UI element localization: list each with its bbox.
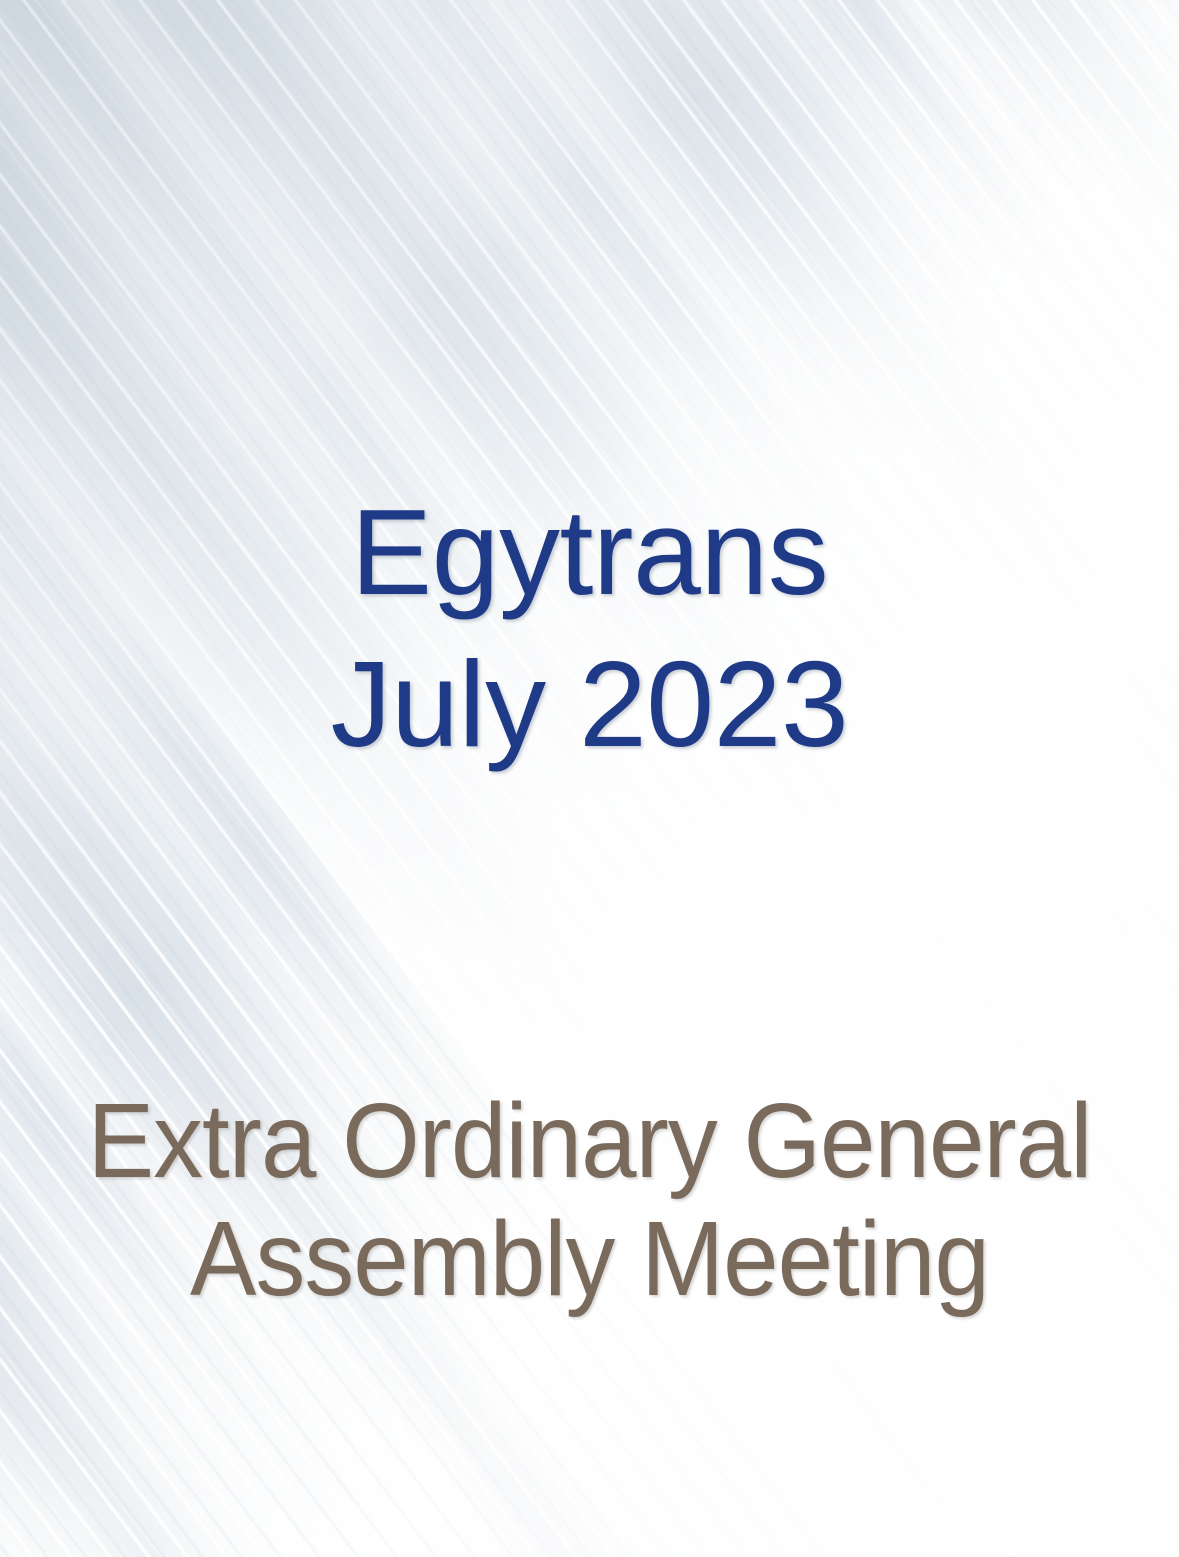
title-line-date: July 2023: [0, 628, 1179, 780]
slide-subtitle: Extra Ordinary General Assembly Meeting: [0, 1082, 1179, 1318]
subtitle-line-1: Extra Ordinary General: [35, 1082, 1143, 1200]
title-slide: Egytrans July 2023 Extra Ordinary Genera…: [0, 0, 1179, 1557]
slide-title: Egytrans July 2023: [0, 476, 1179, 780]
title-line-company: Egytrans: [0, 476, 1179, 628]
subtitle-line-2: Assembly Meeting: [35, 1200, 1143, 1318]
slide-content: Egytrans July 2023 Extra Ordinary Genera…: [0, 0, 1179, 1557]
